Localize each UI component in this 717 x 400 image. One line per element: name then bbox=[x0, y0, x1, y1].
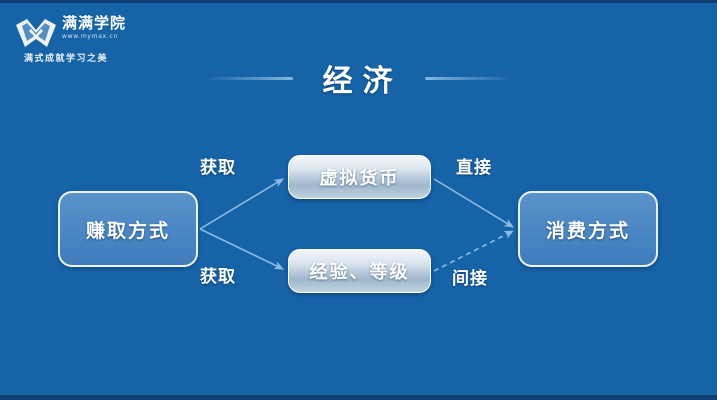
page-title: 经济 bbox=[293, 56, 425, 100]
edge-label-get-bottom: 获取 bbox=[200, 262, 236, 287]
node-consume-label: 消费方式 bbox=[546, 216, 630, 243]
node-virtual-currency[interactable]: 虚拟货币 bbox=[288, 155, 431, 199]
title-rule-right-icon bbox=[425, 77, 509, 80]
edge-earn-to-currency bbox=[200, 179, 283, 229]
logo-url: www.mymax.cn bbox=[62, 33, 142, 41]
title-rule-left-icon bbox=[209, 77, 293, 80]
mountain-m-logo-icon bbox=[14, 17, 58, 51]
slide-canvas: 满满学院 www.mymax.cn 满式成就学习之美 经济 赚取方式 虚拟货币 … bbox=[0, 0, 717, 400]
edge-label-get-top: 获取 bbox=[200, 153, 236, 178]
edge-currency-to-consume bbox=[434, 179, 513, 227]
node-experience-level[interactable]: 经验、等级 bbox=[288, 249, 431, 293]
node-virtual-currency-label: 虚拟货币 bbox=[320, 164, 400, 190]
logo-name: 满满学院 bbox=[62, 15, 142, 32]
node-consume[interactable]: 消费方式 bbox=[518, 191, 658, 267]
title-row: 经济 bbox=[0, 55, 717, 101]
logo-text-wrap: 满满学院 www.mymax.cn bbox=[62, 15, 142, 41]
edge-label-indirect: 间接 bbox=[452, 264, 488, 289]
node-earn[interactable]: 赚取方式 bbox=[58, 191, 198, 267]
node-earn-label: 赚取方式 bbox=[86, 216, 170, 243]
edge-label-direct: 直接 bbox=[456, 153, 492, 178]
node-experience-level-label: 经验、等级 bbox=[310, 258, 410, 284]
